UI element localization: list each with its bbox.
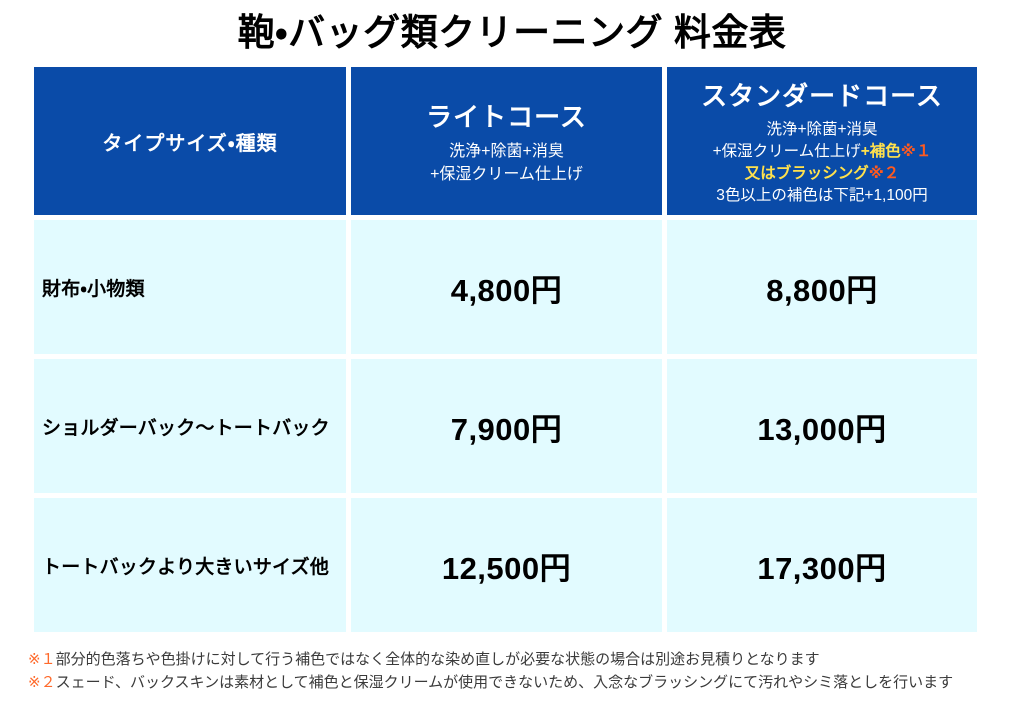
- footnote-2: ※２スェード、バックスキンは素材として補色と保湿クリームが使用できないため、入念…: [28, 671, 1008, 694]
- footnote-2-text: スェード、バックスキンは素材として補色と保湿クリームが使用できないため、入念なブ…: [56, 674, 954, 691]
- light-course-sub-line2: +保湿クリーム仕上げ: [430, 163, 583, 186]
- light-course-sub-line1: 洗浄+除菌+消臭: [449, 140, 564, 163]
- price-table-page: 鞄・バッグ類クリーニング 料金表 タイプサイズ・種類 ライトコース 洗浄+除菌+…: [0, 0, 1024, 724]
- row-type-label: 財布・小物類: [42, 274, 145, 301]
- row-type-cell: ショルダーバック〜トートバック: [34, 359, 346, 493]
- row-light-price-cell: 4,800円: [351, 220, 662, 354]
- row-standard-price: 17,300円: [757, 543, 886, 588]
- row-light-price: 7,900円: [451, 404, 563, 449]
- row-standard-price: 13,000円: [757, 404, 886, 449]
- footnotes: ※１部分的色落ちや色掛けに対して行う補色ではなく全体的な染め直しが必要な状態の場…: [28, 648, 1008, 694]
- footnote-1-mark: ※１: [28, 651, 56, 668]
- standard-course-sub-line1: 洗浄+除菌+消臭: [766, 119, 877, 141]
- pricing-table: タイプサイズ・種類 ライトコース 洗浄+除菌+消臭 +保湿クリーム仕上げ スタン…: [34, 67, 977, 632]
- standard-course-footnote-mark-1: ※１: [901, 143, 932, 160]
- row-light-price: 12,500円: [442, 543, 571, 588]
- header-cell-standard-course: スタンダードコース 洗浄+除菌+消臭 +保湿クリーム仕上げ+補色※１ 又はブラッ…: [667, 67, 977, 215]
- row-light-price-cell: 7,900円: [351, 359, 662, 493]
- light-course-title: ライトコース: [426, 97, 587, 134]
- standard-course-brushing-label: 又はブラッシング: [745, 165, 869, 182]
- row-type-cell: 財布・小物類: [34, 220, 346, 354]
- row-standard-price-cell: 13,000円: [667, 359, 977, 493]
- footnote-2-mark: ※２: [28, 674, 56, 691]
- table-header-row: タイプサイズ・種類 ライトコース 洗浄+除菌+消臭 +保湿クリーム仕上げ スタン…: [34, 67, 977, 215]
- standard-course-surcharge-note: 3色以上の補色は下記+1,100円: [716, 185, 927, 207]
- table-row: 財布・小物類 4,800円 8,800円: [34, 220, 977, 354]
- standard-course-sub-line2-plain: +保湿クリーム仕上げ: [713, 143, 861, 160]
- header-type-label: タイプサイズ・種類: [102, 127, 277, 156]
- header-cell-type: タイプサイズ・種類: [34, 67, 346, 215]
- row-type-cell: トートバックより大きいサイズ他: [34, 498, 346, 632]
- row-light-price-cell: 12,500円: [351, 498, 662, 632]
- footnote-1-text: 部分的色落ちや色掛けに対して行う補色ではなく全体的な染め直しが必要な状態の場合は…: [56, 651, 820, 668]
- standard-course-sub-line3: 又はブラッシング※２: [745, 163, 900, 185]
- row-standard-price-cell: 8,800円: [667, 220, 977, 354]
- footnote-1: ※１部分的色落ちや色掛けに対して行う補色ではなく全体的な染め直しが必要な状態の場…: [28, 648, 1008, 671]
- standard-course-footnote-mark-2: ※２: [869, 165, 900, 182]
- standard-course-retouch-label: +補色: [861, 143, 901, 160]
- page-title: 鞄・バッグ類クリーニング 料金表: [0, 8, 1024, 58]
- table-row: ショルダーバック〜トートバック 7,900円 13,000円: [34, 359, 977, 493]
- row-type-label: トートバックより大きいサイズ他: [42, 552, 329, 579]
- header-cell-light-course: ライトコース 洗浄+除菌+消臭 +保湿クリーム仕上げ: [351, 67, 662, 215]
- standard-course-title: スタンダードコース: [701, 76, 943, 113]
- row-standard-price-cell: 17,300円: [667, 498, 977, 632]
- row-standard-price: 8,800円: [766, 265, 878, 310]
- table-row: トートバックより大きいサイズ他 12,500円 17,300円: [34, 498, 977, 632]
- row-light-price: 4,800円: [451, 265, 563, 310]
- row-type-label: ショルダーバック〜トートバック: [42, 413, 330, 440]
- standard-course-sub-line2: +保湿クリーム仕上げ+補色※１: [713, 141, 932, 163]
